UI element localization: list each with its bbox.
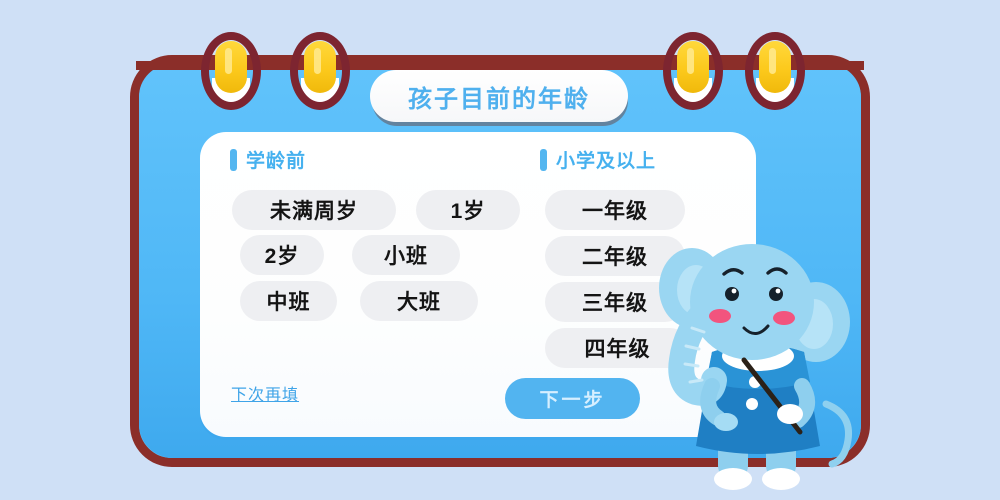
ring-highlight xyxy=(687,48,694,74)
section-marker-icon xyxy=(540,149,547,171)
page-title: 孩子目前的年龄 xyxy=(370,70,628,122)
screen: 孩子目前的年龄 学龄前 小学及以上 未满周岁1岁2岁小班中班大班一年级二年级三年… xyxy=(0,0,1000,500)
age-option-chip[interactable]: 未满周岁 xyxy=(232,190,396,230)
fill-later-link[interactable]: 下次再填 xyxy=(231,381,299,405)
section-marker-icon xyxy=(230,149,237,171)
page-title-text: 孩子目前的年龄 xyxy=(408,79,590,114)
age-option-chip[interactable]: 大班 xyxy=(360,281,478,321)
next-step-button[interactable]: 下一步 xyxy=(505,378,640,419)
binder-ring-icon xyxy=(201,32,261,110)
section-label: 学龄前 xyxy=(246,146,306,173)
section-label: 小学及以上 xyxy=(556,146,656,173)
ring-highlight xyxy=(225,48,232,74)
binder-ring-icon xyxy=(745,32,805,110)
age-option-chip[interactable]: 1岁 xyxy=(416,190,520,230)
section-header-preschool: 学龄前 xyxy=(230,146,306,173)
binder-ring-icon xyxy=(663,32,723,110)
ring-highlight xyxy=(769,48,776,74)
ring-highlight xyxy=(314,48,321,74)
age-option-chip[interactable]: 小班 xyxy=(352,235,460,275)
age-option-chip[interactable]: 一年级 xyxy=(545,190,685,230)
section-header-primary: 小学及以上 xyxy=(540,146,656,173)
elephant-mascot xyxy=(640,236,870,494)
binder-ring-icon xyxy=(290,32,350,110)
age-option-chip[interactable]: 2岁 xyxy=(240,235,324,275)
age-option-chip[interactable]: 中班 xyxy=(240,281,337,321)
